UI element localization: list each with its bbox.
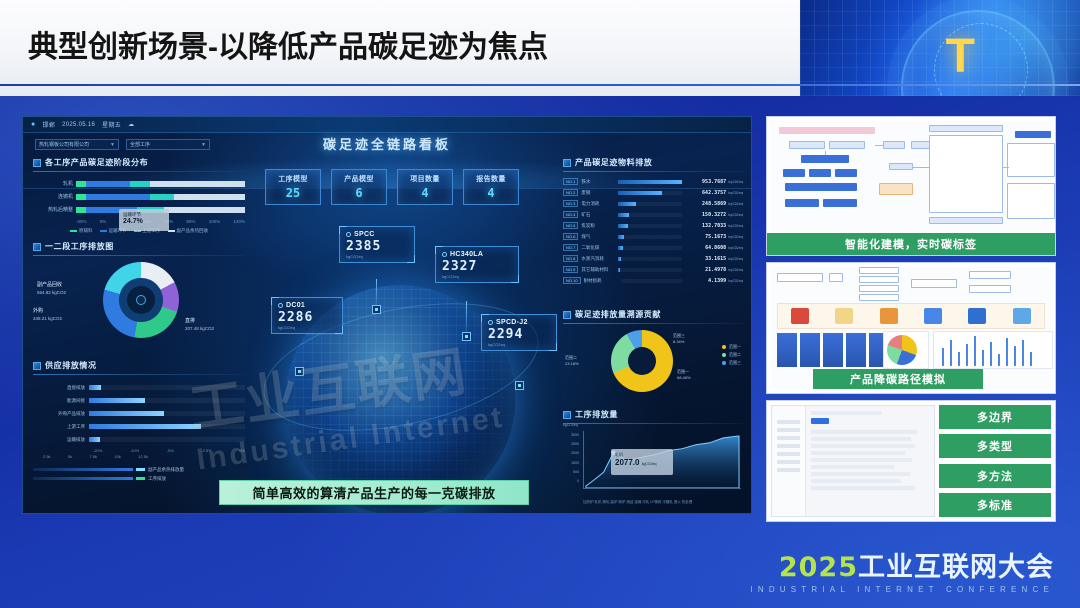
x-tick: 10k	[114, 454, 120, 459]
sidebar-item[interactable]	[777, 420, 800, 424]
legend-item[interactable]: 副产品余热回收	[168, 228, 209, 234]
carbon-software-panel[interactable]: 多边界多类型多方法多标准	[766, 400, 1056, 522]
dist-panel-title-row: 碳足迹排放量溯源贡献	[563, 309, 743, 320]
supply-row-label: 直接排放	[33, 385, 89, 391]
path-node	[859, 294, 899, 301]
chart-icon	[33, 159, 41, 167]
kpi-value: 25	[286, 186, 300, 200]
label-name: 副产品回收	[37, 282, 66, 290]
node-connector	[466, 301, 467, 332]
rank-no: NO.9	[563, 266, 578, 273]
flow-node	[785, 199, 819, 207]
rank-track	[618, 235, 682, 239]
flow-canvas	[771, 121, 1051, 251]
supply-row-fill	[89, 398, 145, 403]
flow-node	[809, 169, 831, 177]
divider	[33, 255, 245, 256]
globe-node-spcc[interactable]: SPCC 2385 kgCO2eq	[339, 226, 415, 263]
rank-no: NO.3	[563, 200, 578, 207]
legend-swatch	[722, 361, 726, 365]
logo-main-row: 2025工业互联网大会	[750, 554, 1054, 581]
panel1-banner-text: 智能化建模，实时碳标签	[845, 236, 977, 252]
stage-panel-title: 各工序产品碳足迹阶段分布	[45, 157, 148, 168]
stage-row-label: 轧机	[33, 180, 73, 187]
stage-seg	[86, 181, 130, 187]
trend-y-unit: kgCO2eq	[563, 423, 578, 427]
kpi-label: 报告数量	[476, 174, 506, 184]
rank-unit: kgCO2eq	[726, 257, 743, 261]
supply-legend: 副产品余热排放量 工序排放	[33, 465, 245, 483]
topbar-weekday: 星期五	[102, 120, 121, 129]
rank-row-9[interactable]: NO.10 耐材损耗 4.1399 kgCO2eq	[563, 275, 743, 286]
legend-swatch	[722, 345, 726, 349]
rank-value: 33.1615 kgCO2eq	[685, 256, 743, 262]
rank-name: 电力消耗	[581, 201, 615, 207]
rank-unit: kgCO2eq	[726, 213, 743, 217]
map-pin-icon	[372, 305, 381, 314]
divider	[33, 171, 245, 172]
mini-bar	[958, 352, 960, 366]
kpi-card-1[interactable]: 产品模型 6	[331, 169, 387, 205]
rank-row-4[interactable]: NO.5 焦炭粉 132.7033 kgCO2eq	[563, 220, 743, 231]
supply-row-1: 能源间接	[33, 394, 245, 407]
donut-legend-item[interactable]: 范围一	[722, 343, 741, 351]
rank-panel-title-row: 产品碳足迹物料排放	[563, 157, 743, 168]
process-card-row	[777, 333, 889, 367]
rank-track	[618, 224, 682, 228]
chevron-down-icon: ▼	[201, 142, 206, 148]
process-card	[777, 333, 797, 367]
sunburst-label-0: 副产品回收 564.82 kgCO2	[37, 282, 66, 296]
supply-x-axis-right: 2.5k5k7.5k10k12.5k	[43, 454, 148, 459]
ui-row	[811, 479, 901, 483]
feature-chip-3[interactable]: 多标准	[939, 493, 1051, 517]
rank-row-5[interactable]: NO.6 煤气 75.1673 kgCO2eq	[563, 231, 743, 242]
node-dot-icon	[488, 320, 493, 325]
panel2-banner: 产品降碳路径模拟	[813, 369, 983, 389]
segment-panel-title: 一二段工序排放图	[45, 241, 114, 252]
trend-panel-title-row: 工序排放量	[563, 409, 743, 420]
list-icon	[563, 159, 571, 167]
kpi-value: 4	[421, 186, 428, 200]
rank-value: 132.7033 kgCO2eq	[685, 223, 743, 229]
flow-link	[825, 151, 826, 155]
stage-seg	[150, 181, 245, 187]
flow-node-highlight	[879, 183, 913, 195]
tooltip-unit: kgCO2eq	[642, 462, 657, 466]
supply-legend-item[interactable]: 副产品余热排放量	[33, 465, 245, 474]
mini-bar	[982, 350, 984, 366]
label-name: 外购	[33, 308, 62, 316]
supply-row-label: 能源间接	[33, 398, 89, 404]
rank-value: 642.3757 kgCO2eq	[685, 190, 743, 196]
rank-no: NO.2	[563, 189, 578, 196]
mini-bar	[1006, 338, 1008, 366]
supply-row-track[interactable]	[89, 424, 245, 429]
x-tick: 120%	[233, 219, 245, 224]
mini-bar	[998, 354, 1000, 366]
rank-fill	[618, 235, 624, 239]
node-name: HC340LA	[450, 251, 483, 258]
dashboard-topbar: ● 邯郸 2025.05.16 星期五 ☁	[23, 117, 752, 133]
node-header: HC340LA	[442, 251, 512, 258]
rank-panel-title: 产品碳足迹物料排放	[575, 157, 652, 168]
flow-node	[929, 217, 1003, 224]
supply-row-4: 运输排放	[33, 433, 245, 446]
node-unit: kgCO2eq	[442, 274, 512, 279]
flow-node	[779, 127, 875, 134]
rank-fill	[618, 268, 620, 272]
node-value: 2327	[442, 259, 512, 274]
rank-track	[618, 268, 682, 272]
stage-seg	[86, 194, 150, 200]
supply-row-track[interactable]	[89, 437, 245, 442]
company-filter-value: 热轧钢板公司有限公司	[39, 141, 89, 148]
slice-pct: 8.34%	[673, 339, 684, 344]
rank-rows: NO.1 铁水 953.7687 kgCO2eq NO.2 废钢 642.375…	[563, 176, 743, 286]
rank-row-8[interactable]: NO.9 其它辅助材料 21.4978 kgCO2eq	[563, 264, 743, 275]
mini-bar-card	[933, 331, 1053, 369]
path-node	[777, 273, 823, 282]
rank-row-3[interactable]: NO.4 矿石 150.3272 kgCO2eq	[563, 209, 743, 220]
bar-chart-icon	[33, 362, 41, 370]
rank-name: 煤气	[581, 234, 615, 240]
legend-label: 副产品余热排放量	[148, 467, 184, 473]
stage-seg	[130, 181, 150, 187]
node-dot-icon	[346, 232, 351, 237]
map-pin-icon	[515, 381, 524, 390]
supply-panel-title: 供应排放情况	[45, 360, 97, 371]
segment-panel-title-row: 一二段工序排放图	[33, 241, 245, 252]
divider	[33, 374, 245, 375]
logo-name-en: INDUSTRIAL INTERNET CONFERENCE	[750, 585, 1054, 594]
legend-swatch	[136, 477, 145, 480]
rank-unit: kgCO2eq	[726, 246, 743, 250]
x-tick: -5%	[167, 448, 174, 453]
rank-value: 953.7687 kgCO2eq	[685, 179, 743, 185]
sunburst-label-2: 直排 207.48 kgCO2	[185, 318, 214, 332]
segment-emission-panel: 一二段工序排放图 副产品回收 564.82 kgCO2 外购 348.21 kg…	[33, 241, 245, 351]
trend-area-wrap: kgCO2eq 30002500200015005000	[563, 427, 743, 503]
rank-value: 21.4978 kgCO2eq	[685, 267, 743, 273]
ui-row	[811, 411, 882, 415]
caster-icon	[880, 308, 898, 324]
supply-row-0: 直接排放	[33, 381, 245, 394]
kpi-row: 工序模型 25 产品模型 6 项目数量 4 报告数量 4	[265, 169, 519, 205]
path-node	[911, 279, 957, 288]
supply-row-fill	[89, 411, 164, 416]
donut-icon	[563, 311, 571, 319]
legend-bar	[33, 477, 133, 480]
globe-node-dc01[interactable]: DC01 2286 kgCO2eq	[271, 297, 343, 334]
rank-no: NO.7	[563, 244, 578, 251]
x-tick: 80%	[186, 219, 195, 224]
node-value: 2286	[278, 310, 336, 325]
legend-label: 工序排放	[148, 476, 166, 482]
path-node	[969, 285, 1011, 293]
label-name: 直排	[185, 318, 214, 326]
node-connector	[376, 279, 377, 305]
x-tick: -2.5%	[201, 448, 211, 453]
path-node	[859, 276, 899, 283]
ui-primary-button[interactable]	[811, 418, 829, 424]
supply-legend-item[interactable]: 工序排放	[33, 474, 245, 483]
node-value: 2385	[346, 239, 408, 254]
flow-node	[823, 199, 857, 207]
dashboard-filters: 热轧钢板公司有限公司 ▼ 全部工序 ▼	[35, 139, 210, 150]
rank-row-6[interactable]: NO.7 二氧化碳 64.8608 kgCO2eq	[563, 242, 743, 253]
supply-row-fill	[89, 424, 201, 429]
feature-chip-2[interactable]: 多方法	[939, 464, 1051, 488]
x-tick: 7.5k	[89, 454, 97, 459]
node-header: SPCC	[346, 231, 408, 238]
logo-year: 2025	[779, 552, 858, 583]
donut-label-2: 范围三 8.34%	[673, 333, 685, 346]
node-header: SPCD-J2	[488, 319, 550, 326]
supply-x-axis-left: -20%-10%-5%-2.5%0%	[93, 448, 245, 453]
sidebar-item[interactable]	[777, 428, 800, 432]
node-dot-icon	[442, 252, 447, 257]
process-filter-value: 全部工序	[130, 141, 150, 148]
rank-fill	[618, 257, 621, 261]
trend-caption: 加热炉 轧机 精轧 高炉 转炉 烧结 连铸 冷轧 LF精炼 冷辗轧 退火 热处理	[583, 500, 692, 505]
kpi-card-2[interactable]: 项目数量 4	[397, 169, 453, 205]
donut-legend-item[interactable]: 范围二	[722, 351, 741, 359]
map-pin-icon	[462, 332, 471, 341]
kpi-label: 产品模型	[344, 174, 374, 184]
area-chart-icon	[563, 411, 571, 419]
supply-row-2: 外购产品排放	[33, 407, 245, 420]
stage-distribution-panel: 各工序产品碳足迹阶段分布 轧机 连铸机 热轧后精整 -20%0%20%40%60…	[33, 157, 245, 235]
rank-unit: kgCO2eq	[726, 235, 743, 239]
furnace-icon	[791, 308, 809, 324]
mini-bar	[966, 344, 968, 366]
trend-panel: 工序排放量 kgCO2eq 30002500200015005000	[563, 409, 743, 503]
rank-name: 其它辅助材料	[581, 267, 615, 273]
sidebar-item[interactable]	[777, 436, 800, 440]
rank-track	[618, 246, 682, 250]
legend-swatch	[100, 230, 107, 232]
flow-node	[929, 125, 1003, 132]
trend-panel-title: 工序排放量	[575, 409, 618, 420]
ui-row	[811, 444, 915, 448]
rank-fill	[618, 224, 628, 228]
sidebar-item[interactable]	[777, 468, 800, 472]
supply-emission-panel: 供应排放情况 直接排放 能源间接 外购产品排放 上游工序 运输排放 -20%-1…	[33, 360, 245, 485]
flow-node	[829, 141, 865, 149]
rank-track	[618, 213, 682, 217]
x-tick: -20%	[76, 219, 87, 224]
roller-icon	[968, 308, 986, 324]
sidebar-item[interactable]	[777, 460, 800, 464]
rank-row-7[interactable]: NO.8 水蒸汽消耗 33.1615 kgCO2eq	[563, 253, 743, 264]
tooltip-value: 2077.0	[615, 458, 639, 467]
tech-grid-overlay	[800, 0, 1080, 96]
legend-item[interactable]: 原辅料	[70, 228, 93, 234]
tooltip-value-row: 2077.0 kgCO2eq	[615, 458, 669, 467]
supply-bars: 直接排放 能源间接 外购产品排放 上游工序 运输排放	[33, 381, 245, 446]
y-tick: 3000	[563, 431, 579, 440]
carbon-path-panel[interactable]: 产品降碳路径模拟	[766, 262, 1056, 394]
software-sidebar[interactable]	[772, 406, 806, 516]
supply-row-label: 运输排放	[33, 437, 89, 443]
stage-seg	[76, 194, 86, 200]
y-tick: 500	[563, 468, 579, 477]
rank-track	[618, 180, 682, 184]
flow-node	[789, 141, 825, 149]
flow-node	[889, 163, 913, 170]
globe-node-spcd-j2[interactable]: SPCD-J2 2294 kgCO2eq	[481, 314, 557, 351]
rank-track	[618, 202, 682, 206]
flow-node	[783, 169, 805, 177]
path-node	[969, 271, 1011, 279]
mini-bar	[990, 342, 992, 366]
flow-link	[1003, 167, 1009, 168]
process-filter-select[interactable]: 全部工序 ▼	[126, 139, 210, 150]
rank-unit: kgCO2eq	[726, 279, 743, 283]
mini-bar	[950, 340, 952, 366]
kpi-value: 6	[355, 186, 362, 200]
node-name: SPCC	[354, 231, 375, 238]
rank-name: 铁水	[581, 179, 615, 185]
process-card	[800, 333, 820, 367]
slice-pct: 23.18%	[565, 361, 579, 366]
rank-fill	[618, 246, 622, 250]
rank-track	[618, 257, 682, 261]
trend-y-axis: 30002500200015005000	[563, 431, 579, 486]
supply-row-label: 外购产品排放	[33, 411, 89, 417]
feature-chips: 多边界多类型多方法多标准	[939, 405, 1051, 517]
modeling-flow-panel[interactable]: 智能化建模，实时碳标签	[766, 116, 1056, 256]
ui-row	[811, 458, 912, 462]
flow-node	[1015, 131, 1051, 138]
software-main	[806, 406, 934, 516]
stage-tooltip: 运输环节 24.7%	[119, 209, 169, 231]
dashboard-banner: 简单高效的算清产品生产的每一克碳排放	[219, 480, 529, 505]
flow-image-box	[1007, 183, 1055, 219]
node-unit: kgCO2eq	[488, 342, 550, 347]
carbon-dashboard: ● 邯郸 2025.05.16 星期五 ☁ 碳足迹全链路看板 热轧钢板公司有限公…	[22, 116, 752, 514]
x-tick: 100%	[209, 219, 221, 224]
kpi-label: 工序模型	[278, 174, 308, 184]
mill-icon	[835, 308, 853, 324]
x-tick: 12.5k	[138, 454, 148, 459]
stage-row-label: 热轧后精整	[33, 206, 73, 213]
rank-row-0[interactable]: NO.1 铁水 953.7687 kgCO2eq	[563, 176, 743, 187]
rank-track	[618, 191, 682, 195]
ui-row	[811, 486, 915, 490]
dashboard-banner-text: 简单高效的算清产品生产的每一克碳排放	[252, 483, 495, 502]
slide-body: ● 邯郸 2025.05.16 星期五 ☁ 碳足迹全链路看板 热轧钢板公司有限公…	[0, 96, 1080, 608]
rank-no: NO.8	[563, 255, 578, 262]
topbar-date: 2025.05.16	[62, 122, 95, 128]
slice-pct: 68.48%	[677, 375, 691, 380]
rank-name: 废钢	[581, 190, 615, 196]
stage-row-1: 连铸机	[33, 190, 245, 203]
distribution-donut[interactable]	[611, 330, 673, 392]
supply-row-track[interactable]	[89, 398, 245, 403]
rank-fill	[621, 279, 622, 283]
donut-wrap: 范围三 8.34% 范围二 23.18% 范围一 68.48% 范围一范围二范围…	[563, 327, 743, 397]
flow-node	[785, 183, 857, 191]
rank-no: NO.10	[563, 277, 581, 284]
rank-unit: kgCO2eq	[726, 268, 743, 272]
legend-swatch	[70, 230, 77, 232]
x-tick: 0%	[100, 219, 107, 224]
kpi-value: 4	[487, 186, 494, 200]
rank-value: 4.1399 kgCO2eq	[685, 278, 743, 284]
flow-node	[883, 141, 905, 149]
supply-row-track[interactable]	[89, 385, 245, 390]
supply-row-3: 上游工序	[33, 420, 245, 433]
mini-bar	[942, 348, 944, 366]
x-tick: -10%	[130, 448, 139, 453]
trend-tooltip: 轧机 2077.0 kgCO2eq	[611, 449, 673, 475]
divider	[563, 171, 743, 172]
rank-name: 矿石	[581, 212, 615, 218]
process-icons-strip	[777, 303, 1045, 329]
mini-bar	[1014, 346, 1016, 366]
kpi-card-0[interactable]: 工序模型 25	[265, 169, 321, 205]
y-tick: 0	[563, 477, 579, 486]
sunburst-label-1: 外购 348.21 kgCO2	[33, 308, 62, 322]
conveyor-icon	[924, 308, 942, 324]
donut-legend-item[interactable]: 范围三	[722, 359, 741, 367]
packing-icon	[1013, 308, 1031, 324]
stage-row-bar[interactable]	[76, 181, 245, 187]
logo-name-cn: 工业互联网大会	[858, 552, 1054, 582]
stage-row-0: 轧机	[33, 177, 245, 190]
rank-unit: kgCO2eq	[726, 180, 743, 184]
stage-seg	[76, 181, 86, 187]
legend-swatch	[136, 468, 145, 471]
stage-row-bar[interactable]	[76, 194, 245, 200]
globe-node-hc340la[interactable]: HC340LA 2327 kgCO2eq	[435, 246, 519, 283]
rank-fill	[618, 191, 661, 195]
node-name: SPCD-J2	[496, 319, 528, 326]
supply-panel-title-row: 供应排放情况	[33, 360, 245, 371]
y-tick: 2500	[563, 440, 579, 449]
label-value: 348.21 kgCO2	[33, 316, 62, 321]
material-rank-panel: 产品碳足迹物料排放 NO.1 铁水 953.7687 kgCO2eq NO.2 …	[563, 157, 743, 286]
rank-track	[621, 279, 682, 283]
rank-row-2[interactable]: NO.3 电力消耗 248.5869 kgCO2eq	[563, 198, 743, 209]
rank-no: NO.1	[563, 178, 578, 185]
feature-chip-0[interactable]: 多边界	[939, 405, 1051, 429]
divider	[563, 423, 743, 424]
slice-name: 范围三	[673, 333, 685, 338]
rank-fill	[618, 202, 635, 206]
kpi-card-3[interactable]: 报告数量 4	[463, 169, 519, 205]
stage-seg	[150, 194, 174, 200]
stage-panel-title-row: 各工序产品碳足迹阶段分布	[33, 157, 245, 168]
process-card	[823, 333, 843, 367]
flow-link	[913, 167, 929, 168]
header-tech-graphic: T	[800, 0, 1080, 96]
feature-chip-1[interactable]: 多类型	[939, 434, 1051, 458]
rank-row-1[interactable]: NO.2 废钢 642.3757 kgCO2eq	[563, 187, 743, 198]
supply-row-track[interactable]	[89, 411, 245, 416]
distribution-panel: 碳足迹排放量溯源贡献 范围三 8.34% 范围二 23.18% 范围一 68.4…	[563, 309, 743, 397]
topbar-location: 邯郸	[43, 120, 56, 129]
sidebar-item[interactable]	[777, 444, 800, 448]
ui-row	[811, 465, 894, 469]
tooltip-value: 24.7%	[123, 218, 165, 225]
rank-unit: kgCO2eq	[726, 191, 743, 195]
sidebar-item[interactable]	[777, 452, 800, 456]
rank-name: 耐材损耗	[584, 278, 618, 284]
company-filter-select[interactable]: 热轧钢板公司有限公司 ▼	[35, 139, 119, 150]
